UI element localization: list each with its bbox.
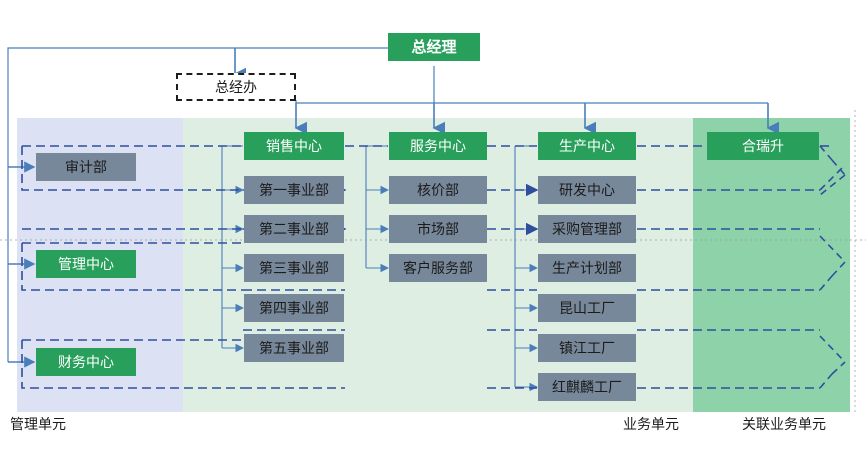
box-procurement-management-department[interactable]: 采购管理部 — [538, 215, 636, 243]
box-rnd-center[interactable]: 研发中心 — [538, 176, 636, 204]
box-first-business-division[interactable]: 第一事业部 — [244, 176, 344, 204]
box-second-business-division[interactable]: 第二事业部 — [244, 215, 344, 243]
box-fourth-business-division[interactable]: 第四事业部 — [244, 294, 344, 322]
legend-business-unit: 业务单元 — [623, 414, 679, 434]
box-label: 市场部 — [417, 222, 459, 236]
legend-management-unit: 管理单元 — [10, 414, 66, 434]
legend-associated-business-unit: 关联业务单元 — [742, 414, 826, 434]
org-chart-canvas: 总经理 总经办 审计部 管理中心 财务中心 销售中心 第一事业部 第二事业部 第… — [0, 0, 866, 452]
box-label: 昆山工厂 — [559, 301, 615, 315]
box-kunshan-factory[interactable]: 昆山工厂 — [538, 294, 636, 322]
box-finance-center[interactable]: 财务中心 — [36, 348, 136, 376]
box-label: 研发中心 — [559, 183, 615, 197]
box-service-center[interactable]: 服务中心 — [389, 132, 487, 160]
box-label: 采购管理部 — [552, 222, 622, 236]
box-label: 第二事业部 — [259, 222, 329, 236]
box-herishen[interactable]: 合瑞升 — [707, 132, 819, 160]
box-label: 第四事业部 — [259, 301, 329, 315]
box-label: 生产中心 — [559, 139, 615, 153]
box-label: 总经办 — [215, 80, 257, 94]
box-general-manager-office[interactable]: 总经办 — [176, 73, 296, 101]
band-associated-business-unit — [693, 118, 850, 412]
box-production-planning-department[interactable]: 生产计划部 — [538, 254, 636, 282]
box-label: 审计部 — [65, 160, 107, 174]
box-label: 镇江工厂 — [559, 341, 615, 355]
box-label: 生产计划部 — [552, 261, 622, 275]
box-label: 第一事业部 — [259, 183, 329, 197]
box-label: 第三事业部 — [259, 261, 329, 275]
box-fifth-business-division[interactable]: 第五事业部 — [244, 334, 344, 362]
box-label: 销售中心 — [266, 139, 322, 153]
box-management-center[interactable]: 管理中心 — [36, 250, 136, 278]
box-label: 服务中心 — [410, 139, 466, 153]
box-label: 第五事业部 — [259, 341, 329, 355]
box-label: 财务中心 — [58, 355, 114, 369]
box-label: 核价部 — [417, 183, 459, 197]
box-label: 客户服务部 — [403, 261, 473, 275]
box-third-business-division[interactable]: 第三事业部 — [244, 254, 344, 282]
box-hongqilin-factory[interactable]: 红麒麟工厂 — [538, 373, 636, 401]
box-sales-center[interactable]: 销售中心 — [244, 132, 344, 160]
box-zhenjiang-factory[interactable]: 镇江工厂 — [538, 334, 636, 362]
box-label: 合瑞升 — [742, 139, 784, 153]
box-label: 管理中心 — [58, 257, 114, 271]
box-label: 总经理 — [411, 40, 456, 55]
box-pricing-department[interactable]: 核价部 — [389, 176, 487, 204]
box-marketing-department[interactable]: 市场部 — [389, 215, 487, 243]
box-production-center[interactable]: 生产中心 — [538, 132, 636, 160]
box-audit-department[interactable]: 审计部 — [36, 153, 136, 181]
box-label: 红麒麟工厂 — [552, 380, 622, 394]
box-general-manager[interactable]: 总经理 — [388, 33, 480, 61]
box-customer-service-department[interactable]: 客户服务部 — [389, 254, 487, 282]
